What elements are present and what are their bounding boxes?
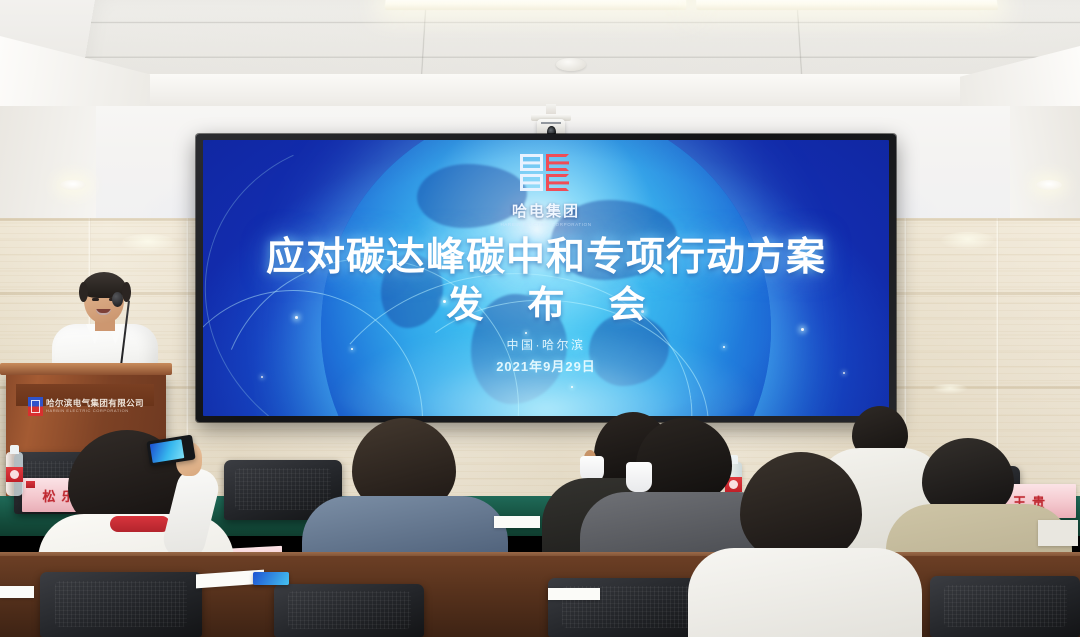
water-bottle: [6, 452, 23, 496]
podium-signage: 哈尔滨电气集团有限公司 HARBIN ELECTRIC CORPORATION: [16, 384, 154, 406]
presenter-hair-side: [122, 282, 131, 302]
face-mask: [626, 462, 652, 492]
tablet-device: [253, 572, 289, 585]
screen-date: 2021年9月29日: [203, 356, 889, 375]
document-paper: [0, 586, 34, 598]
phone-screen: [150, 439, 185, 463]
screen-content: 哈电集团 HARBIN ELECTRIC CORPORATION 应对碳达峰碳中…: [203, 140, 889, 416]
wall-light-reflection: [932, 384, 968, 394]
logo-cell-h1: [520, 154, 543, 171]
logo-cell-e1: [546, 154, 569, 171]
ceiling-downlight: [1036, 180, 1062, 190]
wall-light-reflection: [940, 232, 996, 250]
podium-english-text: HARBIN ELECTRIC CORPORATION: [46, 408, 129, 413]
document-paper: [1038, 520, 1078, 546]
microphone-head: [112, 292, 123, 307]
presenter-hair-side: [79, 282, 88, 302]
screen-subtitle: 中国·哈尔滨: [203, 336, 889, 353]
presenter-eye: [92, 298, 99, 301]
conference-room-photo: 哈电集团 HARBIN ELECTRIC CORPORATION 应对碳达峰碳中…: [0, 0, 1080, 637]
screen-title-line2: 发布会: [203, 274, 889, 328]
chair: [274, 584, 424, 637]
wall-light-reflection: [120, 234, 176, 252]
ceiling-downlight: [60, 180, 86, 190]
document-paper: [548, 588, 600, 600]
ceiling-strip-light: [696, 0, 998, 10]
podium-emblem-icon: [28, 397, 43, 416]
wall-corner-left: [0, 106, 96, 222]
ceiling-strip-light: [385, 0, 687, 10]
camera-brand-label: [541, 122, 561, 124]
ceiling: [0, 0, 1080, 112]
led-video-wall: 哈电集团 HARBIN ELECTRIC CORPORATION 应对碳达峰碳中…: [196, 134, 896, 422]
chair: [40, 572, 202, 637]
ceiling-grid-line: [91, 22, 1080, 23]
ceiling-speaker: [556, 58, 586, 71]
screen-logo: 哈电集团 HARBIN ELECTRIC CORPORATION: [203, 154, 889, 227]
logo-cell-e2: [546, 174, 569, 191]
document-paper: [494, 516, 540, 528]
chair: [548, 578, 708, 637]
hec-logo-mark: [520, 154, 572, 192]
chair: [930, 576, 1080, 637]
audience-scarf: [110, 516, 170, 532]
logo-cell-h2: [520, 174, 543, 191]
bottle-label: [6, 467, 23, 482]
podium-top-surface: [0, 363, 172, 375]
audience-torso: [688, 548, 922, 637]
ceiling-grid-line: [85, 57, 1080, 58]
wall-corner-right: [1010, 106, 1080, 222]
nameplate-flag-icon: [26, 481, 35, 488]
logo-chinese-name: 哈电集团: [203, 200, 889, 221]
